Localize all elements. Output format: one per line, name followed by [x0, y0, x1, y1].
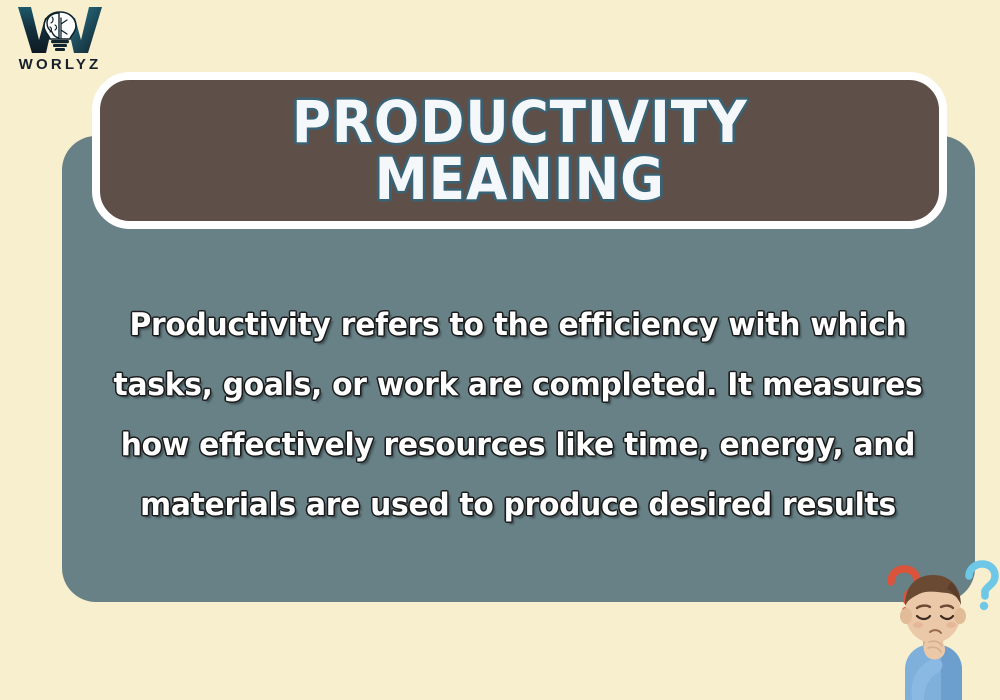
question-mark-right-icon — [969, 564, 995, 610]
definition-text: Productivity refers to the efficiency wi… — [96, 295, 941, 535]
title-banner: Productivity Meaning — [92, 72, 947, 229]
brand-logo[interactable]: WORLYZ — [6, 4, 114, 80]
brain-lightbulb-w-logo-icon — [14, 4, 106, 56]
brand-name: WORLYZ — [6, 56, 114, 73]
thinking-person-illustration — [865, 558, 1000, 700]
page-title: Productivity Meaning — [292, 94, 748, 208]
